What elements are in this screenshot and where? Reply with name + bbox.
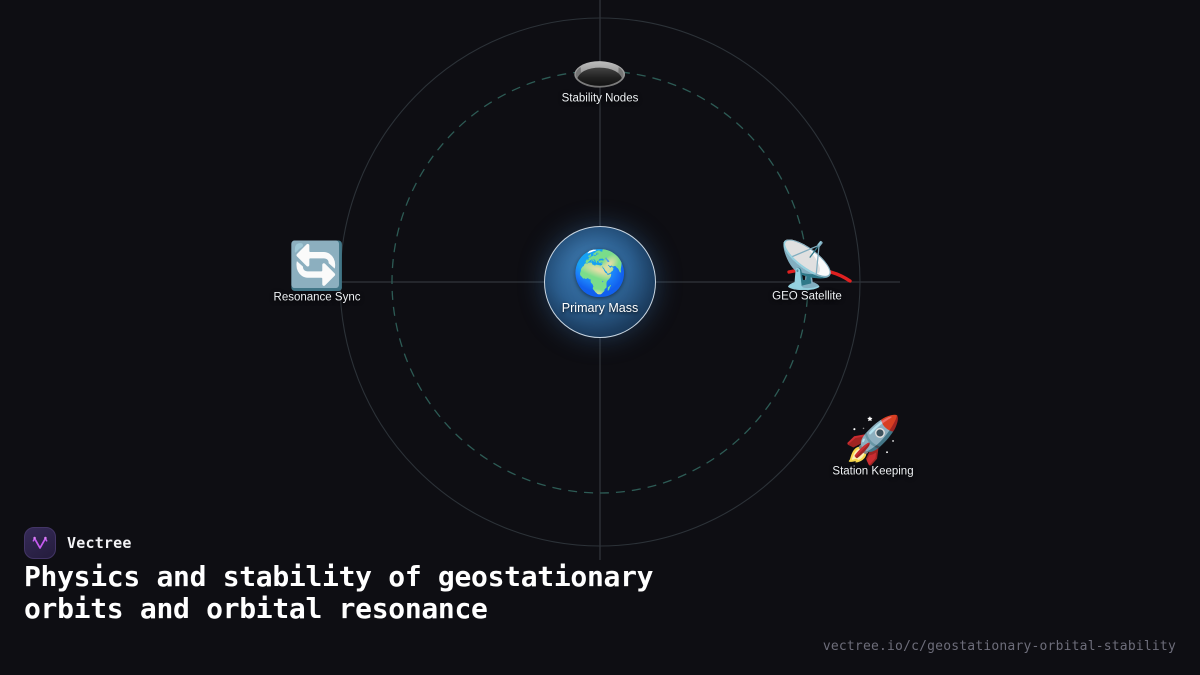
orbit-node-label: Resonance Sync [274,292,361,304]
orbit-node-resonance-sync[interactable]: 🔄 Resonance Sync [274,243,361,304]
vectree-v-tree-logo-icon [24,527,56,559]
orbit-node-station-keeping[interactable]: 🚀 Station Keeping [832,417,913,478]
logo-glyph [30,533,50,553]
orbit-node-label: Stability Nodes [562,93,639,105]
earth-globe-europe-africa-icon: 🌍 [573,252,628,296]
orbit-node-label: GEO Satellite [772,291,842,303]
brand-name: Vectree [67,534,132,552]
footer: Vectree Physics and stability of geostat… [0,515,1200,675]
page-title: Physics and stability of geostationary o… [24,561,764,625]
hole-icon: 🕳️ [571,44,628,90]
rocket-icon: 🚀 [844,417,901,463]
center-node-label: Primary Mass [562,301,638,315]
center-node-primary-mass[interactable]: 🌍 Primary Mass [544,226,656,338]
orbit-node-geo-satellite[interactable]: 📡 GEO Satellite [772,242,842,303]
satellite-icon: 📡 [778,242,835,288]
slide-canvas: 🌍 Primary Mass 🕳️ Stability Nodes 🔄 Reso… [0,0,1200,675]
orbit-node-label: Station Keeping [832,466,913,478]
orbit-node-stability-nodes[interactable]: 🕳️ Stability Nodes [562,44,639,105]
counterclockwise-arrows-icon: 🔄 [288,243,345,289]
source-url: vectree.io/c/geostationary-orbital-stabi… [823,639,1176,654]
brand[interactable]: Vectree [24,527,132,559]
